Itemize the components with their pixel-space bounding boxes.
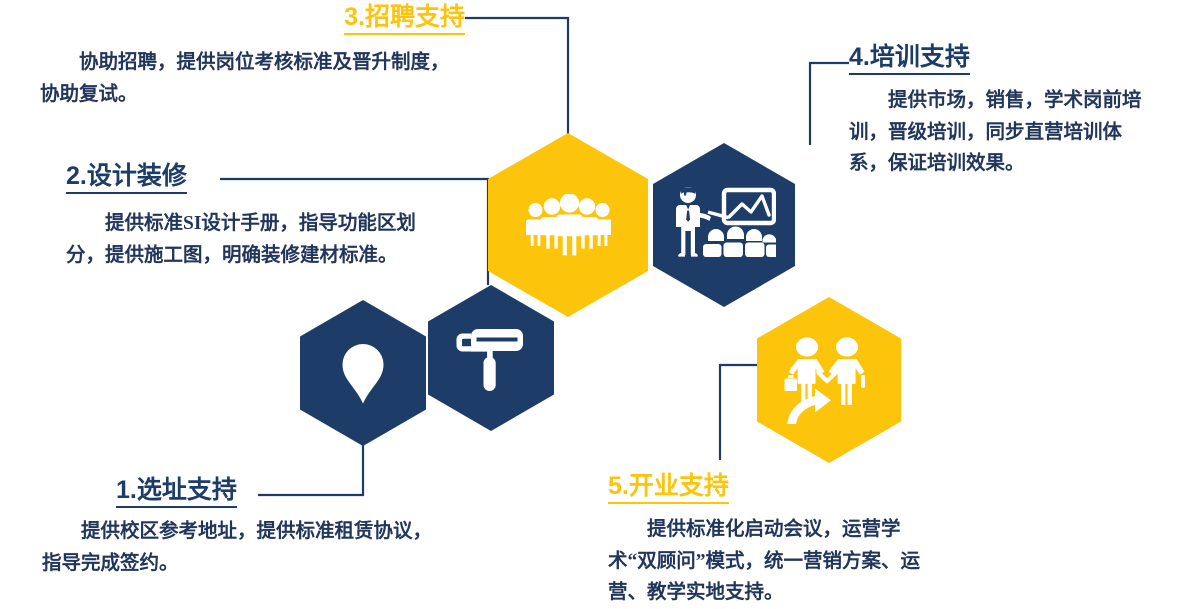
step-2-title: 2.设计装修 (66, 163, 187, 194)
text-block-step-5: 5.开业支持 提供标准化启动会议，运营学术“双顾问”模式，统一营销方案、运营、教… (608, 473, 938, 609)
text-block-step-3: 3.招聘支持 协助招聘，提供岗位考核标准及晋升制度，协助复试。 (40, 4, 465, 110)
step-2-body: 提供标准SI设计手册，指导功能区划分，提供施工图，明确装修建材标准。 (66, 208, 441, 271)
connector-step-5 (720, 365, 758, 460)
step-5-body: 提供标准化启动会议，运营学术“双顾问”模式，统一营销方案、运营、教学实地支持。 (608, 514, 938, 609)
step-3-body: 协助招聘，提供岗位考核标准及晋升制度，协助复试。 (40, 47, 465, 110)
people-group-icon (525, 194, 611, 256)
text-block-step-4: 4.培训支持 提供市场，销售，学术岗前培训，晋级培训，同步直营培训体系，保证培训… (849, 44, 1149, 180)
step-3-title: 3.招聘支持 (344, 4, 465, 35)
step-1-title: 1.选址支持 (116, 477, 237, 508)
map-pin-icon (341, 342, 385, 404)
paint-roller-icon (452, 321, 530, 395)
hexagon-step-3[interactable] (488, 133, 648, 317)
text-block-step-2: 2.设计装修 提供标准SI设计手册，指导功能区划分，提供施工图，明确装修建材标准… (66, 163, 441, 271)
step-5-title: 5.开业支持 (608, 473, 729, 504)
step-1-body: 提供校区参考地址，提供标准租赁协议，指导完成签约。 (42, 516, 442, 579)
training-presentation-icon (672, 184, 776, 266)
connector-step-4 (810, 63, 849, 145)
connector-step-3 (465, 18, 568, 134)
hexagon-step-2[interactable] (428, 285, 554, 431)
step-4-body: 提供市场，销售，学术岗前培训，晋级培训，同步直营培训体系，保证培训效果。 (849, 85, 1149, 180)
infographic-canvas: 3.招聘支持 协助招聘，提供岗位考核标准及晋升制度，协助复试。 4.培训支持 提… (0, 0, 1182, 609)
step-4-title: 4.培训支持 (849, 44, 970, 75)
hexagon-step-1[interactable] (300, 300, 426, 446)
handshake-growth-icon (781, 334, 877, 426)
text-block-step-1: 1.选址支持 提供校区参考地址，提供标准租赁协议，指导完成签约。 (42, 477, 442, 579)
hexagon-step-5[interactable] (757, 297, 901, 463)
hexagon-step-4[interactable] (653, 143, 795, 307)
